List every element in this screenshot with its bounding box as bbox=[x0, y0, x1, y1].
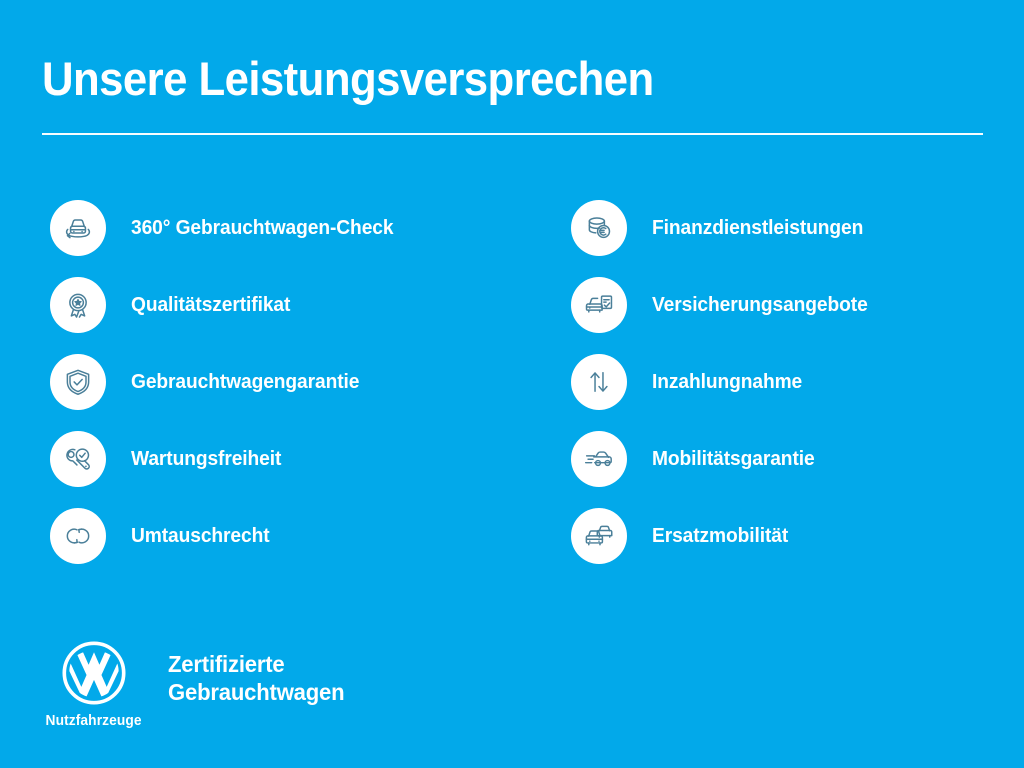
promise-item-mobilitaetsgarantie[interactable]: Mobilitätsgarantie bbox=[571, 431, 877, 508]
promise-label: Versicherungsangebote bbox=[652, 277, 868, 333]
promise-item-gebrauchtwagengarantie[interactable]: Gebrauchtwagengarantie bbox=[50, 354, 404, 431]
shield-check-icon bbox=[61, 365, 95, 399]
brand-sub-label: Nutzfahrzeuge bbox=[46, 713, 142, 729]
promise-item-versicherungsangebote[interactable]: Versicherungsangebote bbox=[571, 277, 877, 354]
brand-mark: Nutzfahrzeuge bbox=[42, 640, 146, 729]
promise-label: Umtauschrecht bbox=[131, 508, 270, 564]
brand-claim: Zertifizierte Gebrauchtwagen bbox=[168, 650, 344, 706]
badge-circle bbox=[50, 200, 106, 256]
badge-circle bbox=[571, 508, 627, 564]
badge-circle bbox=[50, 508, 106, 564]
two-cars-icon bbox=[582, 519, 616, 553]
promise-item-inzahlungnahme[interactable]: Inzahlungnahme bbox=[571, 354, 877, 431]
badge-circle bbox=[571, 354, 627, 410]
car-360-check-icon bbox=[61, 211, 95, 245]
badge-circle bbox=[50, 431, 106, 487]
exchange-arrows-icon bbox=[61, 519, 95, 553]
wrench-check-icon bbox=[61, 442, 95, 476]
badge-circle bbox=[571, 431, 627, 487]
vw-roundel-icon bbox=[61, 640, 127, 706]
promises-right-column: Finanzdienstleistungen bbox=[571, 200, 877, 585]
brand-claim-line-1: Zertifizierte bbox=[168, 650, 344, 678]
coins-euro-icon bbox=[582, 211, 616, 245]
promise-item-wartungsfreiheit[interactable]: Wartungsfreiheit bbox=[50, 431, 404, 508]
promise-item-umtauschrecht[interactable]: Umtauschrecht bbox=[50, 508, 404, 585]
promise-item-ersatzmobilitaet[interactable]: Ersatzmobilität bbox=[571, 508, 877, 585]
badge-circle bbox=[571, 200, 627, 256]
brand-lockup: Nutzfahrzeuge Zertifizierte Gebrauchtwag… bbox=[42, 640, 352, 729]
promise-label: Ersatzmobilität bbox=[652, 508, 788, 564]
promise-label: Wartungsfreiheit bbox=[131, 431, 281, 487]
promise-item-qualitaetszertifikat[interactable]: Qualitätszertifikat bbox=[50, 277, 404, 354]
badge-circle bbox=[50, 354, 106, 410]
promise-label: Finanzdienstleistungen bbox=[652, 200, 863, 256]
car-speed-icon bbox=[582, 442, 616, 476]
promise-label: Gebrauchtwagengarantie bbox=[131, 354, 359, 410]
badge-circle bbox=[571, 277, 627, 333]
promise-item-finanzdienstleistungen[interactable]: Finanzdienstleistungen bbox=[571, 200, 877, 277]
promises-left-column: 360° Gebrauchtwagen-Check Qualitätsz bbox=[50, 200, 404, 585]
award-rosette-icon bbox=[61, 288, 95, 322]
promise-label: 360° Gebrauchtwagen-Check bbox=[131, 200, 393, 256]
car-document-check-icon bbox=[582, 288, 616, 322]
promise-label: Inzahlungnahme bbox=[652, 354, 802, 410]
promise-label: Qualitätszertifikat bbox=[131, 277, 290, 333]
brand-claim-line-2: Gebrauchtwagen bbox=[168, 678, 344, 706]
promise-item-gebrauchtwagen-check[interactable]: 360° Gebrauchtwagen-Check bbox=[50, 200, 404, 277]
up-down-arrows-icon bbox=[582, 365, 616, 399]
badge-circle bbox=[50, 277, 106, 333]
promise-label: Mobilitätsgarantie bbox=[652, 431, 815, 487]
slide-canvas: Unsere Leistungsversprechen bbox=[0, 0, 1024, 768]
